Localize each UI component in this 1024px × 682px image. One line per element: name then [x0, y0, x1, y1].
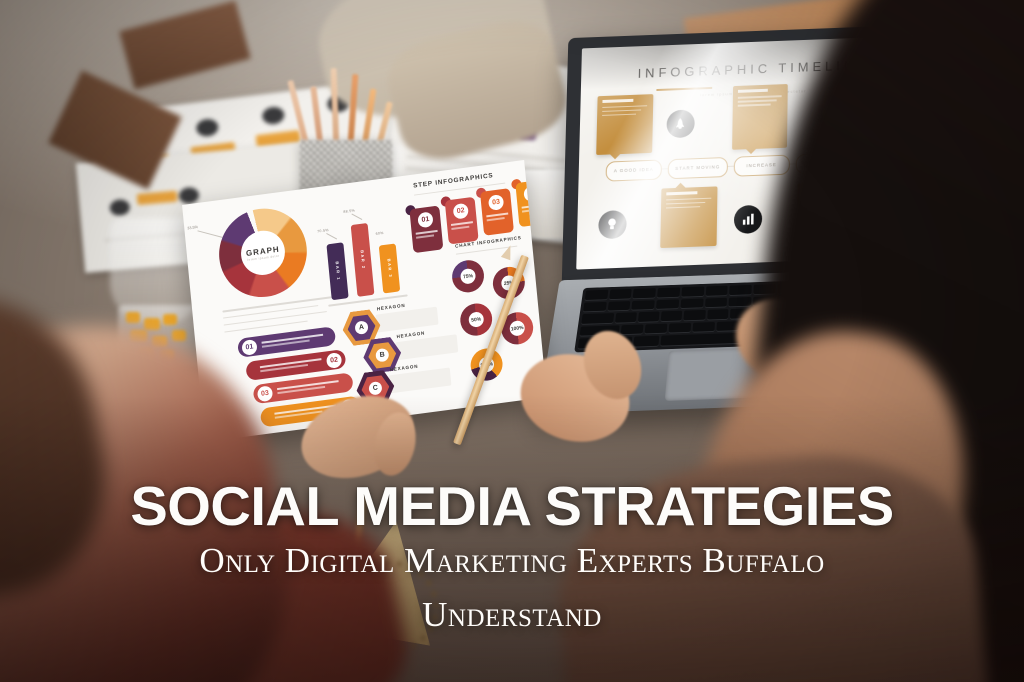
- step-number: 03: [488, 194, 504, 211]
- list-number: 03: [257, 385, 273, 402]
- graph-callout-line: [197, 230, 222, 238]
- timeline-card-2: [660, 186, 717, 248]
- hexagon-card-2: [395, 334, 458, 360]
- timeline-card-1: [597, 94, 654, 156]
- rocket-icon: [666, 110, 694, 139]
- hexagon-card-1: [375, 307, 438, 333]
- bar-2-value: 88.5%: [343, 208, 355, 214]
- timeline-node-label: A GOOD IDEA: [614, 167, 654, 174]
- percent-value: 100%: [509, 320, 525, 337]
- timeline-node-2[interactable]: START MOVING: [668, 157, 728, 179]
- percent-value: 50%: [468, 311, 484, 328]
- bar-2: BAR 2: [351, 223, 375, 297]
- timeline-node-label: INCREASE: [746, 162, 777, 168]
- step-number: 01: [417, 211, 433, 228]
- bar-3: BAR 3: [379, 243, 400, 293]
- bar-3-value: 60%: [375, 231, 383, 236]
- bar-label: BAR 2: [359, 250, 366, 270]
- screen-title-rule: [657, 87, 712, 91]
- bar-chart-icon: [734, 204, 763, 233]
- percent-value: 75%: [460, 268, 476, 285]
- timeline-node-1[interactable]: A GOOD IDEA: [605, 159, 662, 181]
- bar-label: BAR 1: [334, 261, 341, 281]
- hexagon-card-3: [388, 367, 451, 393]
- percent-donut-1: 75%: [451, 258, 486, 294]
- lightbulb-icon: [598, 210, 627, 239]
- scene-image: INFOGRAPHIC TIMELINE lorem ipsum dolor s…: [0, 0, 1024, 682]
- step-item-1: 01: [409, 205, 443, 253]
- bar-label: BAR 3: [386, 258, 393, 278]
- list-number: 01: [241, 338, 257, 355]
- hexagon-label-1: HEXAGON: [377, 303, 406, 312]
- list-number: 02: [326, 352, 342, 369]
- graph-callout-value: 33.5%: [187, 225, 198, 230]
- bar-1: BAR 1: [326, 242, 348, 300]
- timeline-card-3: [732, 84, 788, 150]
- step-item-3: 03: [480, 188, 514, 236]
- step-number: 02: [453, 203, 469, 220]
- percent-donut-3: 50%: [459, 302, 494, 338]
- timeline-node-label: START MOVING: [675, 164, 720, 171]
- step-item-2: 02: [445, 197, 479, 245]
- hexagon-label-2: HEXAGON: [396, 330, 425, 339]
